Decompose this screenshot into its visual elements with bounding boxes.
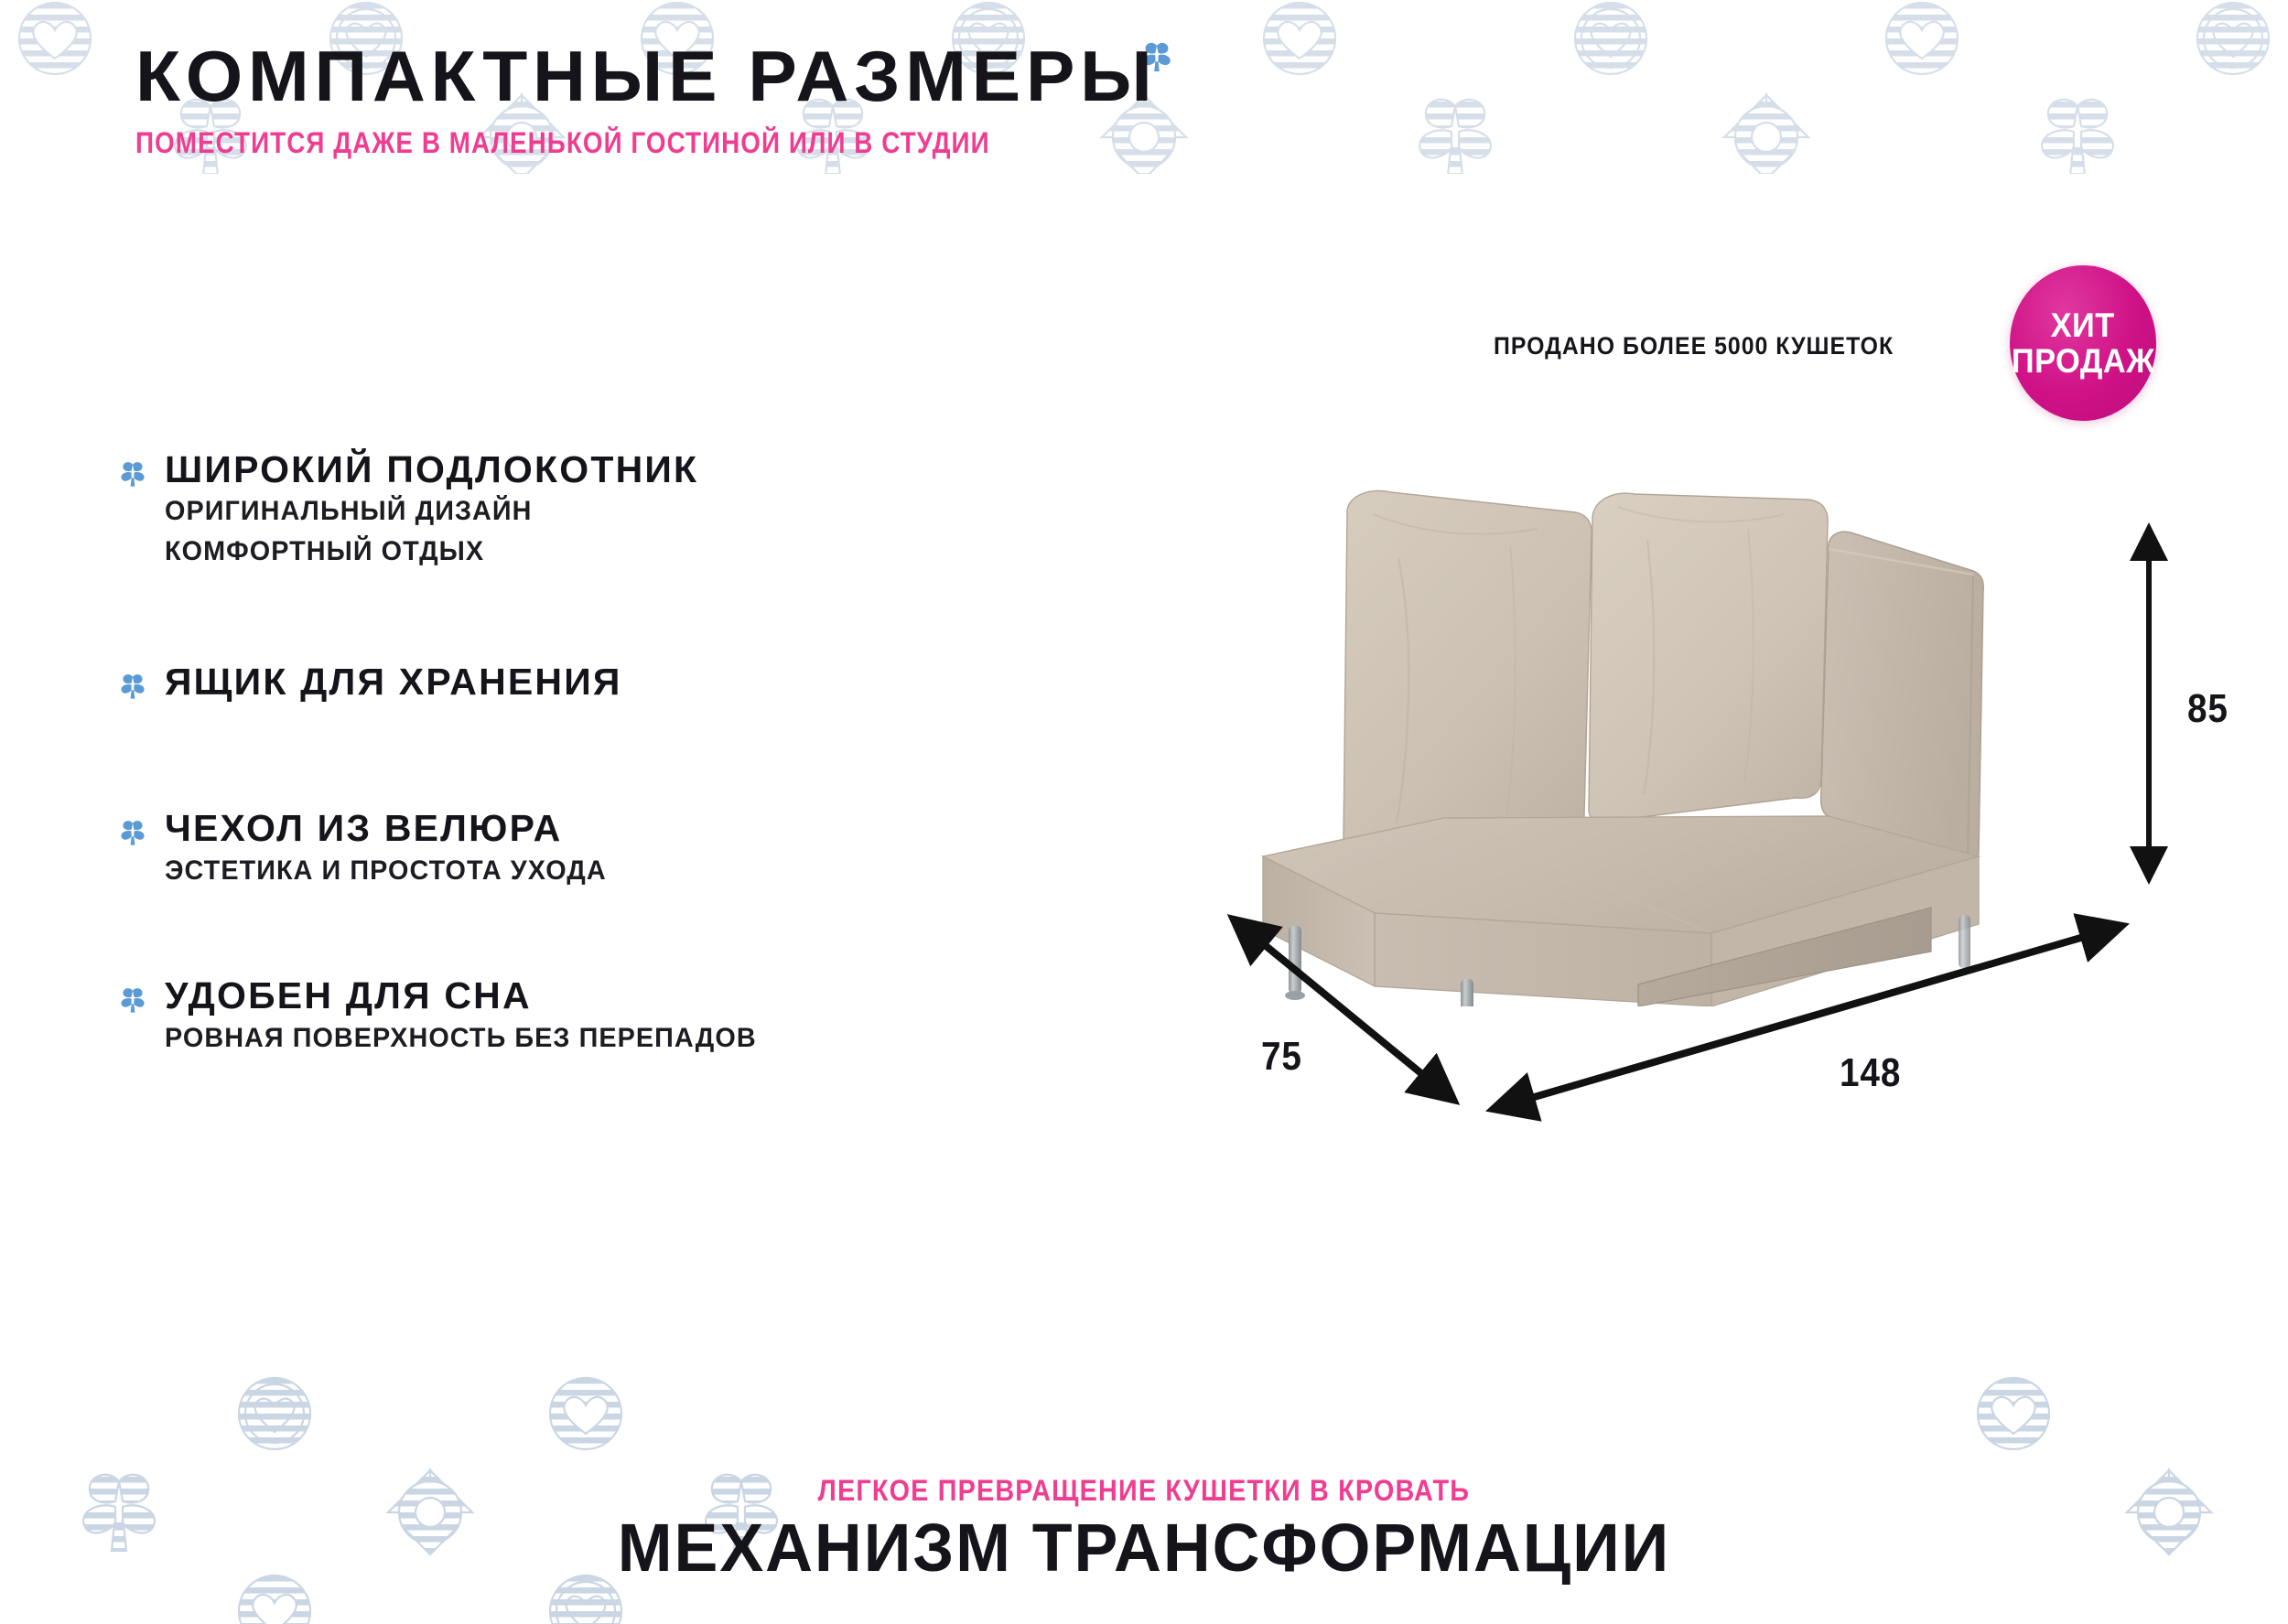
feature-title: УДОБЕН ДЛЯ СНА xyxy=(165,976,1032,1016)
feature-subtitle-1: ЭСТЕТИКА И ПРОСТОТА УХОДА xyxy=(165,854,998,888)
sold-count-text: ПРОДАНО БОЛЕЕ 5000 КУШЕТОК xyxy=(1494,332,1894,360)
header-block: КОМПАКТНЫЕ РАЗМЕРЫ ПОМЕСТИТСЯ ДАЖЕ В МАЛ… xyxy=(135,40,1175,160)
badge-line-2: ПРОДАЖ xyxy=(2012,344,2155,379)
footer-block: ЛЕГКОЕ ПРЕВРАЩЕНИЕ КУШЕТКИ В КРОВАТЬ МЕХ… xyxy=(0,1474,2288,1582)
page-title: КОМПАКТНЫЕ РАЗМЕРЫ xyxy=(135,40,1158,112)
clover-icon xyxy=(117,976,165,1020)
footer-kicker: ЛЕГКОЕ ПРЕВРАЩЕНИЕ КУШЕТКИ В КРОВАТЬ xyxy=(818,1474,1471,1508)
feature-item-sleep-comfort: УДОБЕН ДЛЯ СНА РОВНАЯ ПОВЕРХНОСТЬ БЕЗ ПЕ… xyxy=(117,976,1032,1056)
feature-title: ЧЕХОЛ ИЗ ВЕЛЮРА xyxy=(165,809,1032,848)
feature-text: УДОБЕН ДЛЯ СНА РОВНАЯ ПОВЕРХНОСТЬ БЕЗ ПЕ… xyxy=(165,976,1032,1056)
feature-subtitle-1: ОРИГИНАЛЬНЫЙ ДИЗАЙН xyxy=(165,494,998,529)
feature-title: ШИРОКИЙ ПОДЛОКОТНИК xyxy=(165,450,1032,489)
feature-text: ШИРОКИЙ ПОДЛОКОТНИК ОРИГИНАЛЬНЫЙ ДИЗАЙН … xyxy=(165,450,1032,569)
footer-kicker-row: ЛЕГКОЕ ПРЕВРАЩЕНИЕ КУШЕТКИ В КРОВАТЬ xyxy=(0,1474,2288,1513)
feature-title: ЯЩИК ДЛЯ ХРАНЕНИЯ xyxy=(165,662,1032,702)
badge-line-1: ХИТ xyxy=(2051,308,2115,343)
title-row: КОМПАКТНЫЕ РАЗМЕРЫ xyxy=(135,40,1175,112)
feature-subtitle-2: КОМФОРТНЫЙ ОТДЫХ xyxy=(165,534,998,569)
feature-list: ШИРОКИЙ ПОДЛОКОТНИК ОРИГИНАЛЬНЫЙ ДИЗАЙН … xyxy=(117,450,1032,1056)
feature-subtitle-1: РОВНАЯ ПОВЕРХНОСТЬ БЕЗ ПЕРЕПАДОВ xyxy=(165,1021,998,1056)
clover-icon xyxy=(117,450,165,494)
feature-item-storage-box: ЯЩИК ДЛЯ ХРАНЕНИЯ xyxy=(117,662,1032,706)
clover-icon xyxy=(117,809,165,853)
clover-icon xyxy=(117,662,165,706)
footer-title: МЕХАНИЗМ ТРАНСФОРМАЦИИ xyxy=(35,1513,2254,1582)
bestseller-badge: ХИТ ПРОДАЖ xyxy=(2010,265,2156,421)
dimension-height-label: 85 xyxy=(2187,686,2229,732)
feature-item-velour-cover: ЧЕХОЛ ИЗ ВЕЛЮРА ЭСТЕТИКА И ПРОСТОТА УХОД… xyxy=(117,809,1032,888)
feature-text: ЧЕХОЛ ИЗ ВЕЛЮРА ЭСТЕТИКА И ПРОСТОТА УХОД… xyxy=(165,809,1032,888)
page-subtitle: ПОМЕСТИТСЯ ДАЖЕ В МАЛЕНЬКОЙ ГОСТИНОЙ ИЛИ… xyxy=(135,126,1040,160)
dimension-width-label: 148 xyxy=(1840,1050,1901,1096)
feature-item-wide-armrest: ШИРОКИЙ ПОДЛОКОТНИК ОРИГИНАЛЬНЫЙ ДИЗАЙН … xyxy=(117,450,1032,569)
product-image-sofa xyxy=(1236,457,2023,1006)
feature-text: ЯЩИК ДЛЯ ХРАНЕНИЯ xyxy=(165,662,1032,702)
dimension-depth-label: 75 xyxy=(1261,1034,1302,1080)
